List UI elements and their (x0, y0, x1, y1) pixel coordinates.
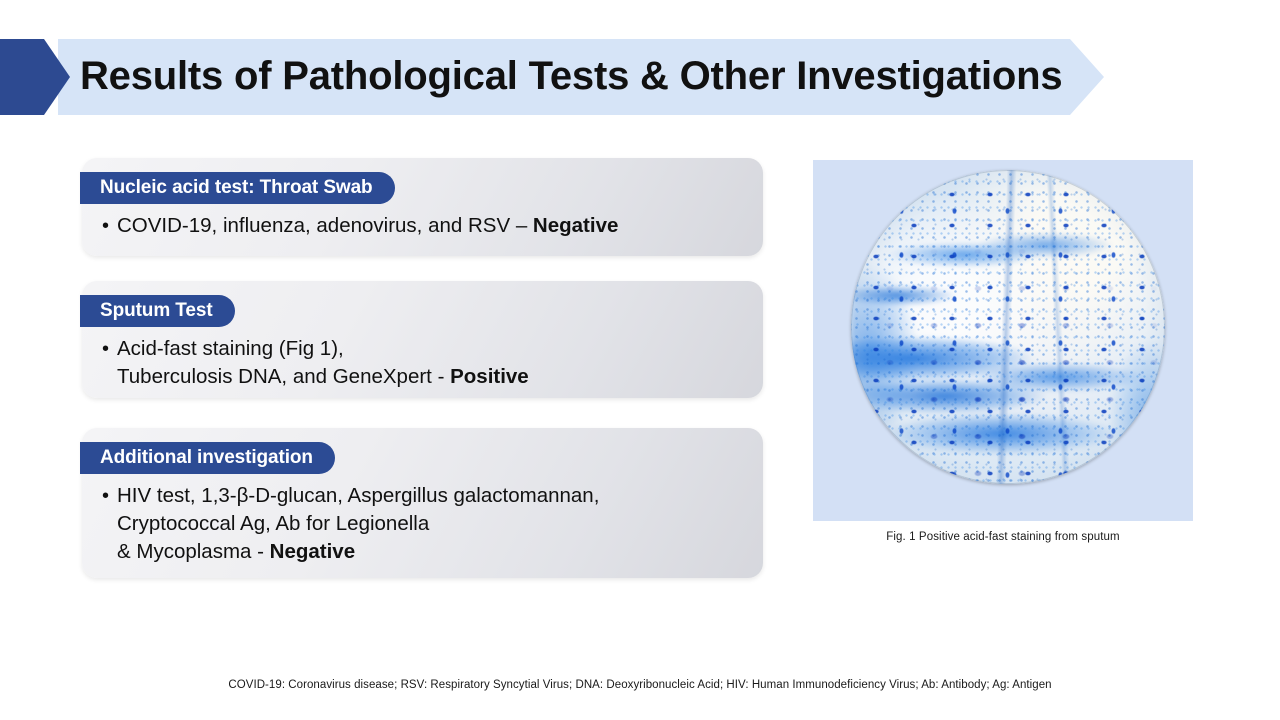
figure-panel (813, 160, 1193, 521)
result-value: Positive (450, 365, 529, 388)
result-value: Negative (270, 540, 355, 563)
card-body: • COVID-19, influenza, adenovirus, and R… (102, 212, 747, 240)
list-item-text: HIV test, 1,3-β-D-glucan, Aspergillus ga… (117, 482, 747, 566)
list-item-lead: Acid-fast staining (Fig 1), Tuberculosis… (117, 337, 450, 388)
figure-caption: Fig. 1 Positive acid-fast staining from … (813, 531, 1193, 543)
list-item-lead: COVID-19, influenza, adenovirus, and RSV… (117, 214, 533, 237)
abbreviations-footnote: COVID-19: Coronavirus disease; RSV: Resp… (0, 679, 1280, 691)
acid-fast-stain-micrograph (851, 170, 1165, 484)
card-body: • HIV test, 1,3-β-D-glucan, Aspergillus … (102, 482, 747, 566)
result-card-sputum-test: Sputum Test • Acid-fast staining (Fig 1)… (82, 281, 763, 398)
list-item: • HIV test, 1,3-β-D-glucan, Aspergillus … (102, 482, 747, 566)
result-card-additional-investigation: Additional investigation • HIV test, 1,3… (82, 428, 763, 578)
card-header-label: Additional investigation (80, 442, 335, 474)
list-item: • Acid-fast staining (Fig 1), Tuberculos… (102, 335, 747, 391)
bullet-icon: • (102, 212, 117, 240)
bullet-icon: • (102, 482, 117, 510)
page-title: Results of Pathological Tests & Other In… (80, 39, 1062, 115)
slide-title-banner: Results of Pathological Tests & Other In… (0, 39, 1104, 115)
microscope-vignette (851, 170, 1165, 484)
result-value: Negative (533, 214, 618, 237)
card-header-label: Nucleic acid test: Throat Swab (80, 172, 395, 204)
bullet-icon: • (102, 335, 117, 363)
list-item: • COVID-19, influenza, adenovirus, and R… (102, 212, 747, 240)
list-item-text: Acid-fast staining (Fig 1), Tuberculosis… (117, 335, 747, 391)
result-card-nucleic-acid-test: Nucleic acid test: Throat Swab • COVID-1… (82, 158, 763, 256)
card-header-label: Sputum Test (80, 295, 235, 327)
card-body: • Acid-fast staining (Fig 1), Tuberculos… (102, 335, 747, 391)
list-item-text: COVID-19, influenza, adenovirus, and RSV… (117, 212, 747, 240)
list-item-lead: HIV test, 1,3-β-D-glucan, Aspergillus ga… (117, 484, 599, 563)
